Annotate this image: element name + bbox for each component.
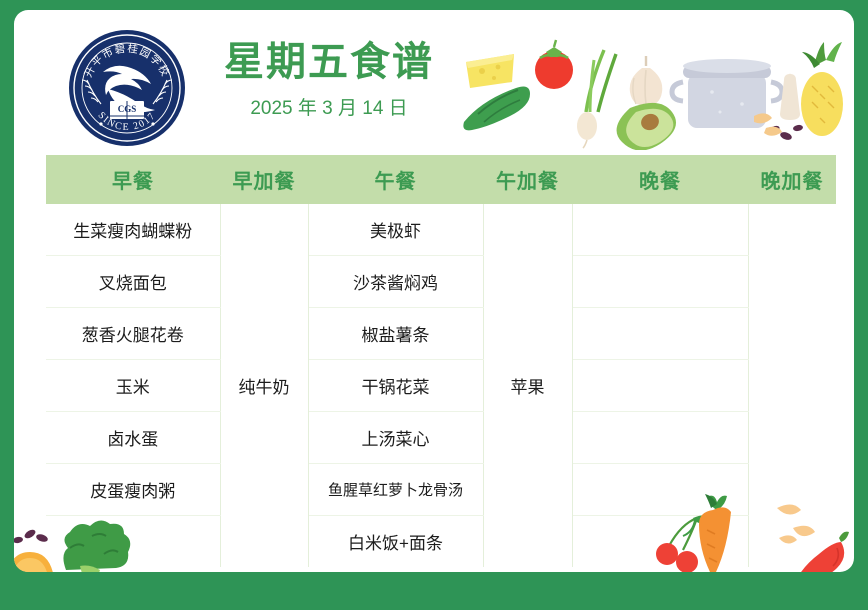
cell-dinner-5 [572,412,748,464]
bottom-left-decorations [14,482,208,572]
table-header-row: 早餐 早加餐 午餐 午加餐 晚餐 晚加餐 [46,155,836,204]
column-header-breakfast: 早餐 [46,155,220,204]
header-food-illustrations [454,30,844,150]
table-row: 生菜瘦肉蝴蝶粉 纯牛奶 美极虾 苹果 [46,204,836,256]
cell-lunch-1: 美极虾 [308,204,483,256]
cell-dinner-1 [572,204,748,256]
orange-slice-icon [14,552,54,572]
cell-lunch-5: 上汤菜心 [308,412,483,464]
cell-breakfast-3: 葱香火腿花卷 [46,308,220,360]
poster-header: 开平市碧桂园学校 SINCE 2017 [14,10,854,150]
column-header-morning-snack: 早加餐 [220,155,308,204]
page-title: 星期五食谱 [199,34,459,90]
salt-shaker-icon [780,74,800,120]
cell-lunch-snack: 苹果 [483,204,572,567]
chili-pepper-icon [795,532,849,572]
cell-breakfast-5: 卤水蛋 [46,412,220,464]
cell-dinner-4 [572,360,748,412]
cell-breakfast-2: 叉烧面包 [46,256,220,308]
column-header-lunch-snack: 午加餐 [483,155,572,204]
column-header-dinner: 晚餐 [572,155,748,204]
table-row: 卤水蛋 上汤菜心 [46,412,836,464]
cell-breakfast-1: 生菜瘦肉蝴蝶粉 [46,204,220,256]
cell-dinner-3 [572,308,748,360]
cell-breakfast-4: 玉米 [46,360,220,412]
cucumber-icon [463,86,530,130]
scallion-icon [577,50,616,148]
cell-lunch-4: 干锅花菜 [308,360,483,412]
cell-lunch-7: 白米饭+面条 [308,516,483,568]
table-row: 葱香火腿花卷 椒盐薯条 [46,308,836,360]
cell-morning-snack: 纯牛奶 [220,204,308,567]
cell-lunch-2: 沙茶酱焖鸡 [308,256,483,308]
menu-poster: 开平市碧桂园学校 SINCE 2017 [14,10,854,572]
avocado-icon [617,103,676,150]
pineapple-icon [801,42,843,136]
cell-lunch-6: 鱼腥草红萝卜龙骨汤 [308,464,483,516]
garlic-icon [630,56,663,106]
cashew-icon [777,504,815,543]
tomato-icon [535,40,573,89]
menu-date: 2025 年 3 月 14 日 [199,94,459,124]
column-header-lunch: 午餐 [308,155,483,204]
broccoli-icon [63,520,130,572]
column-header-evening-snack: 晚加餐 [748,155,836,204]
school-crest-logo: 开平市碧桂园学校 SINCE 2017 [67,28,187,148]
bottom-right-decorations [649,490,854,572]
cell-lunch-3: 椒盐薯条 [308,308,483,360]
cell-dinner-2 [572,256,748,308]
cheese-icon [466,54,514,88]
crest-monogram: CGS [118,104,137,114]
carrot-icon [699,494,731,572]
title-block: 星期五食谱 2025 年 3 月 14 日 [199,34,459,124]
beans-icon [14,528,49,544]
table-row: 叉烧面包 沙茶酱焖鸡 [46,256,836,308]
table-row: 玉米 干锅花菜 [46,360,836,412]
